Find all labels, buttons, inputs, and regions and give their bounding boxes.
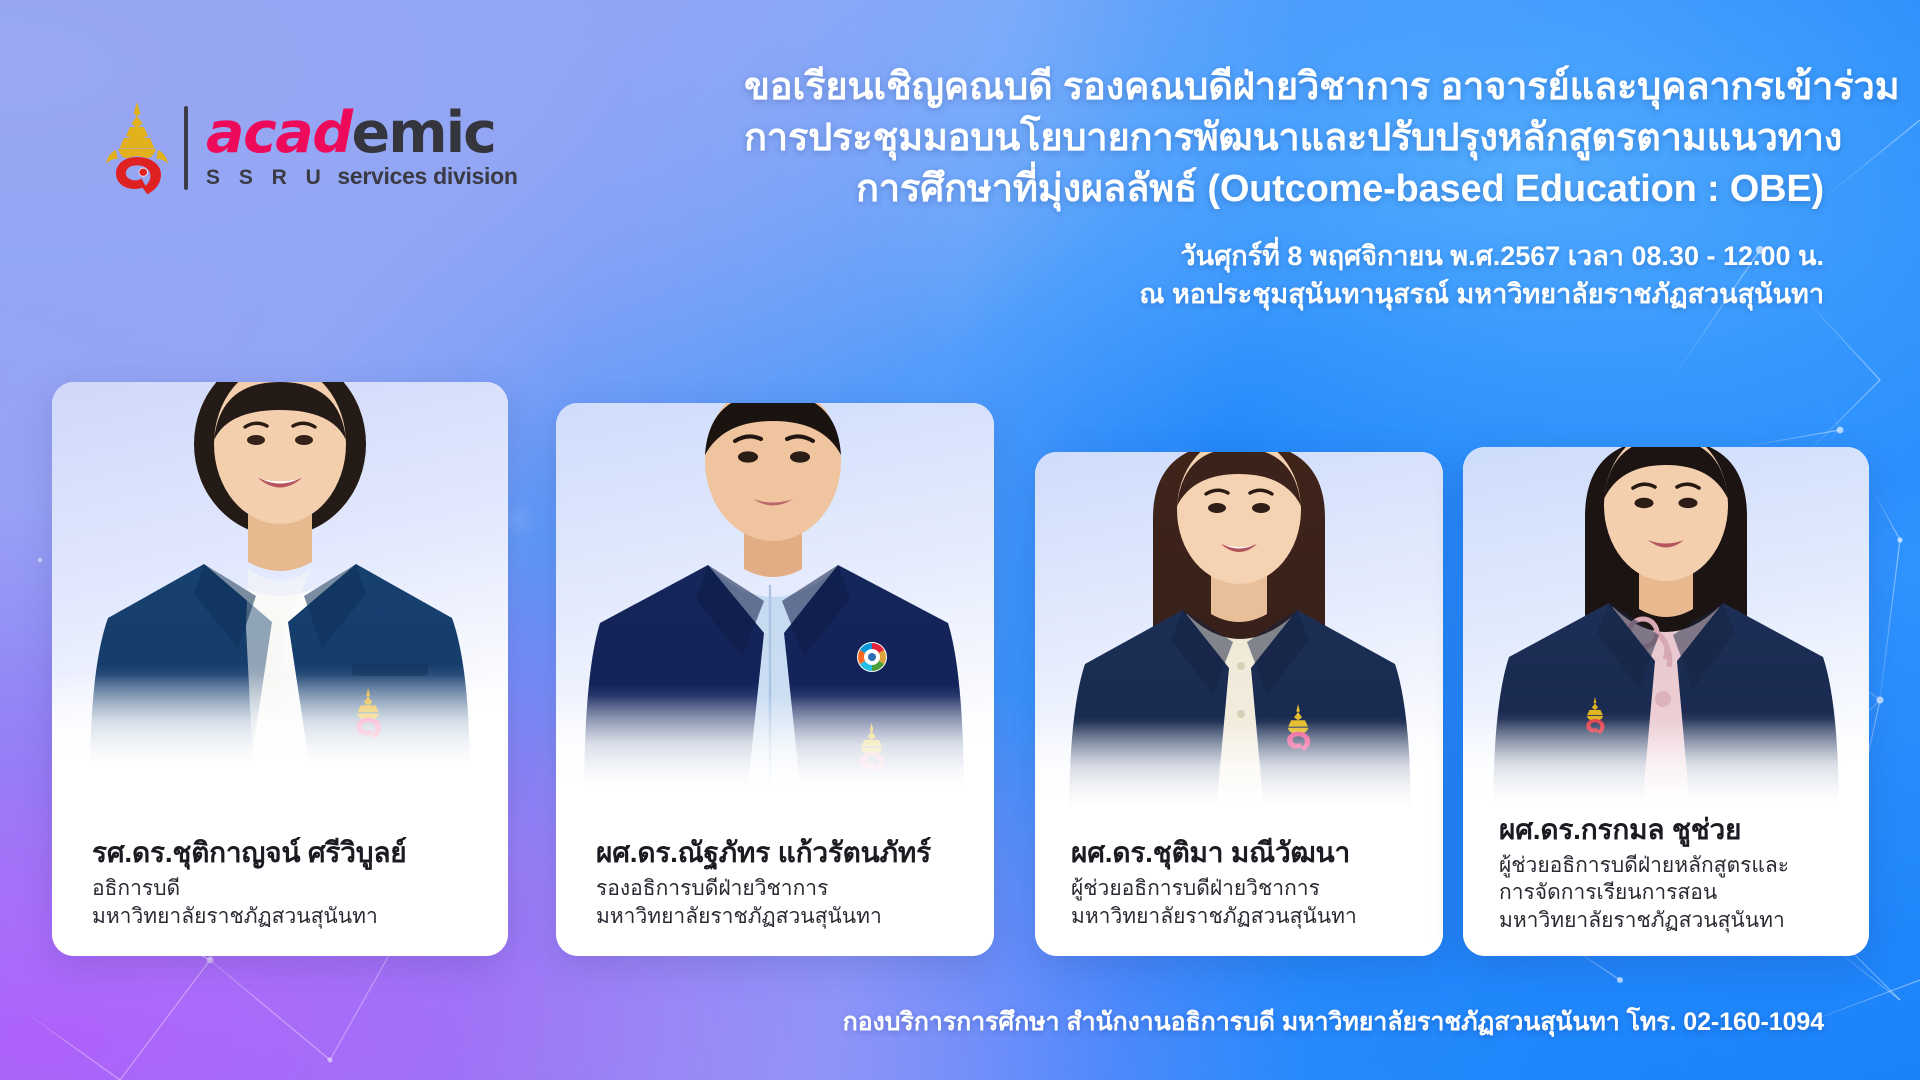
speaker-role-line: ผู้ช่วยอธิการบดีฝ่ายวิชาการ [1071, 875, 1443, 902]
logo-divider [184, 106, 188, 190]
photo-fade-overlay [1035, 722, 1443, 822]
speaker-name: ผศ.ดร.ชุติมา มณีวัฒนา [1071, 835, 1443, 870]
speaker-org-line: มหาวิทยาลัยราชภัฏสวนสุนันทา [1499, 907, 1869, 934]
header-block: ขอเรียนเชิญคณบดี รองคณบดีฝ่ายวิชาการ อาจ… [744, 62, 1824, 313]
logo-wordmark: academic S S R U services division [206, 106, 518, 191]
title-line-3: การศึกษาที่มุ่งผลลัพธ์ (Outcome-based Ed… [744, 164, 1824, 215]
speaker-role-line: อธิการบดี [92, 875, 508, 902]
speaker-photo [52, 382, 508, 782]
subtitle-line-1: วันศุกร์ที่ 8 พฤศจิกายน พ.ศ.2567 เวลา 08… [744, 237, 1824, 275]
academic-services-division-logo: academic S S R U services division [104, 96, 518, 200]
title-line-1: ขอเรียนเชิญคณบดี รองคณบดีฝ่ายวิชาการ อาจ… [744, 62, 1824, 113]
speaker-name: ผศ.ดร.กรกมล ชูช่วย [1499, 812, 1869, 847]
subtitle-line-2: ณ หอประชุมสุนันทานุสรณ์ มหาวิทยาลัยราชภั… [744, 275, 1824, 313]
speaker-photo [1463, 447, 1869, 819]
logo-word-emic: emic [352, 100, 495, 166]
photo-fade-overlay [52, 674, 508, 782]
speaker-info: ผศ.ดร.ชุติมา มณีวัฒนา ผู้ช่วยอธิการบดีฝ่… [1035, 835, 1443, 956]
speaker-card[interactable]: รศ.ดร.ชุติกาญจน์ ศรีวิบูลย์ อธิการบดี มห… [52, 382, 508, 956]
speaker-role-line-2: การจัดการเรียนการสอน [1499, 879, 1869, 906]
logo-services-division-label: services division [337, 163, 517, 190]
speaker-org-line: มหาวิทยาลัยราชภัฏสวนสุนันทา [596, 903, 994, 930]
speaker-org-line: มหาวิทยาลัยราชภัฏสวนสุนันทา [92, 903, 508, 930]
speaker-role-line: ผู้ช่วยอธิการบดีฝ่ายหลักสูตรและ [1499, 852, 1869, 879]
event-datetime-venue: วันศุกร์ที่ 8 พฤศจิกายน พ.ศ.2567 เวลา 08… [744, 237, 1824, 314]
speaker-card[interactable]: ผศ.ดร.ณัฐภัทร แก้วรัตนภัทร์ รองอธิการบดี… [556, 403, 994, 956]
speaker-role-line: รองอธิการบดีฝ่ายวิชาการ [596, 875, 994, 902]
logo-word-acad: acad [206, 100, 352, 166]
speaker-photo [556, 403, 994, 803]
photo-fade-overlay [556, 695, 994, 803]
speaker-org-line: มหาวิทยาลัยราชภัฏสวนสุนันทา [1071, 903, 1443, 930]
sdg-wheel-pin [857, 642, 887, 672]
speaker-info: รศ.ดร.ชุติกาญจน์ ศรีวิบูลย์ อธิการบดี มห… [52, 835, 508, 956]
speaker-name: รศ.ดร.ชุติกาญจน์ ศรีวิบูลย์ [92, 835, 508, 870]
speaker-info: ผศ.ดร.กรกมล ชูช่วย ผู้ช่วยอธิการบดีฝ่ายห… [1463, 812, 1869, 956]
speaker-card[interactable]: ผศ.ดร.กรกมล ชูช่วย ผู้ช่วยอธิการบดีฝ่ายห… [1463, 447, 1869, 956]
speaker-photo [1035, 452, 1443, 822]
poster-canvas: academic S S R U services division ขอเรี… [0, 0, 1920, 1080]
logo-ssru-label: S S R U [206, 166, 327, 190]
footer-contact: กองบริการการศึกษา สำนักงานอธิการบดี มหาว… [843, 1002, 1824, 1042]
ssru-emblem-icon [104, 100, 170, 196]
title-line-2: การประชุมมอบนโยบายการพัฒนาและปรับปรุงหลั… [744, 113, 1824, 164]
speaker-info: ผศ.ดร.ณัฐภัทร แก้วรัตนภัทร์ รองอธิการบดี… [556, 835, 994, 956]
page-title: ขอเรียนเชิญคณบดี รองคณบดีฝ่ายวิชาการ อาจ… [744, 62, 1824, 215]
speaker-name: ผศ.ดร.ณัฐภัทร แก้วรัตนภัทร์ [596, 835, 994, 870]
speaker-card[interactable]: ผศ.ดร.ชุติมา มณีวัฒนา ผู้ช่วยอธิการบดีฝ่… [1035, 452, 1443, 956]
photo-fade-overlay [1463, 719, 1869, 819]
